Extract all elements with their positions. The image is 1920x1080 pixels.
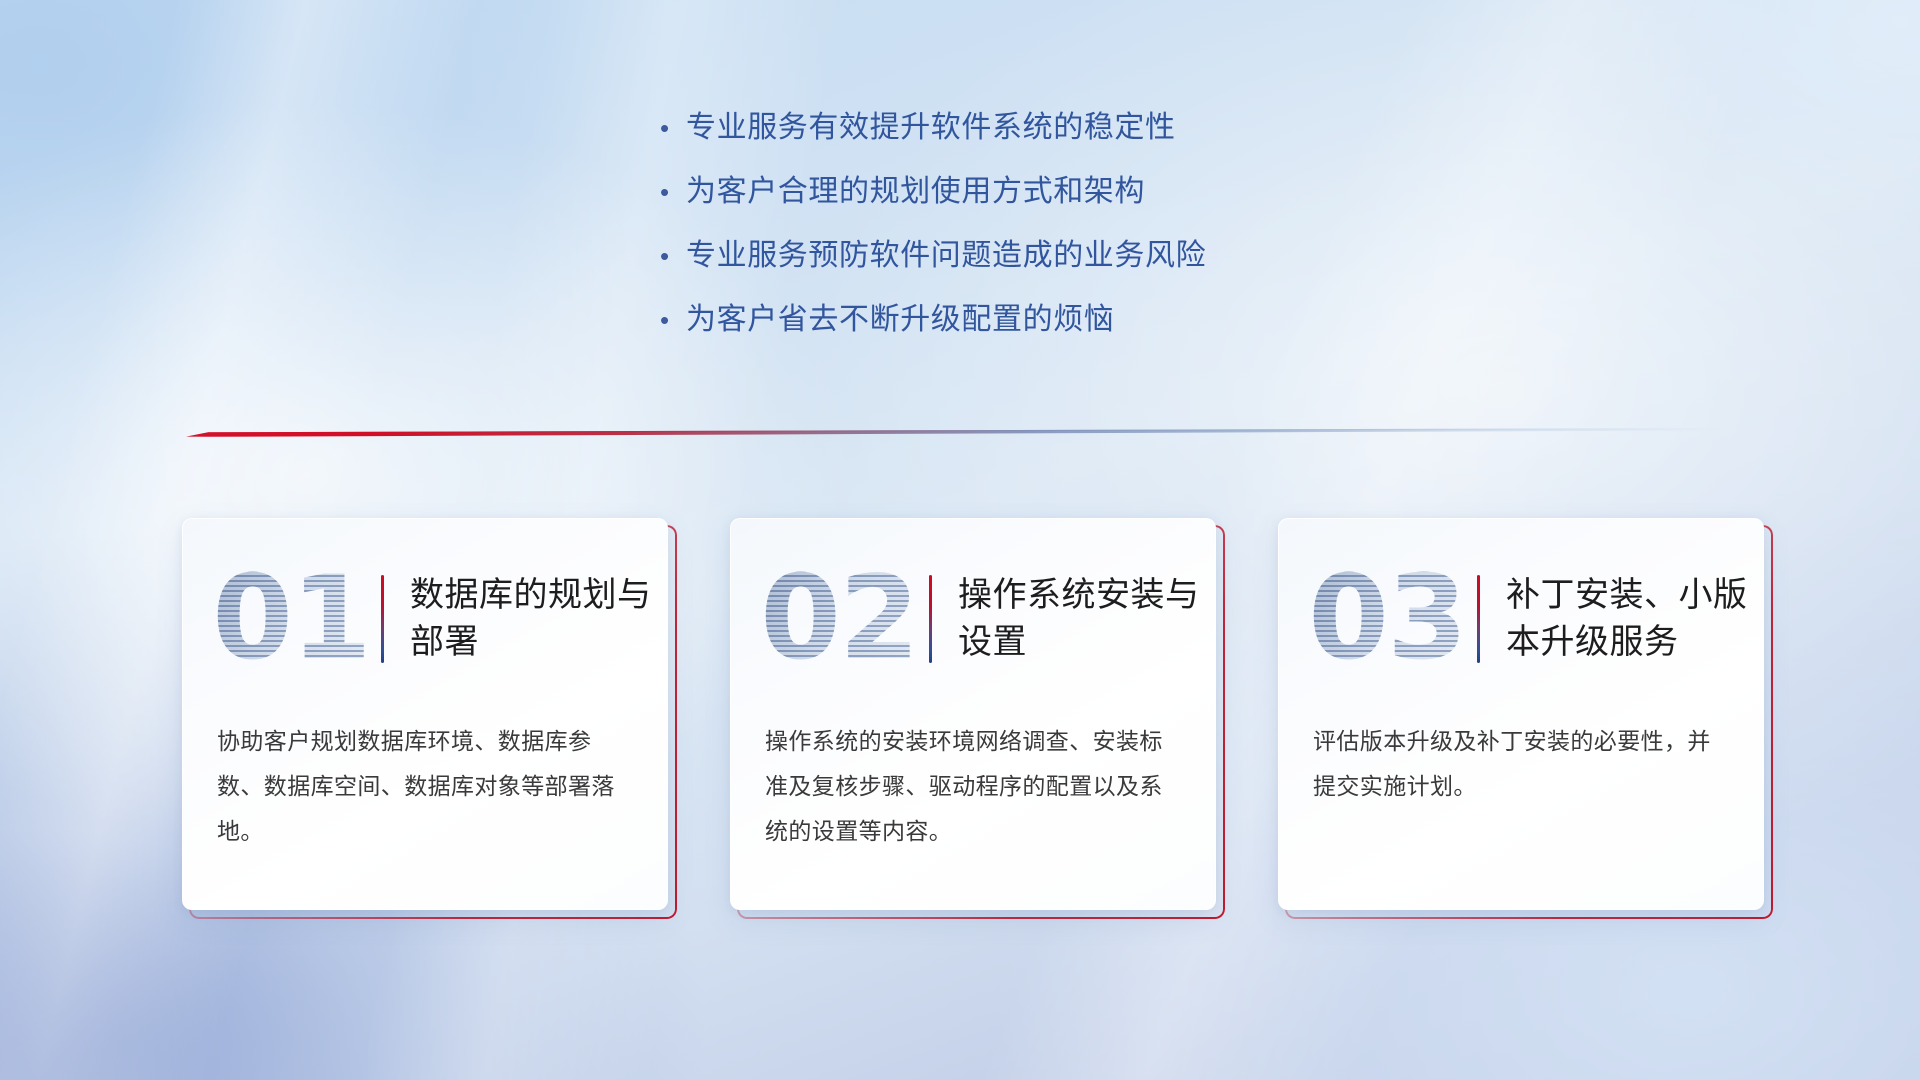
- card-description: 评估版本升级及补丁安装的必要性，并提交实施计划。: [1313, 719, 1729, 809]
- card-description: 操作系统的安装环境网络调查、安装标准及复核步骤、驱动程序的配置以及系统的设置等内…: [765, 719, 1181, 854]
- slide-canvas: • 专业服务有效提升软件系统的稳定性 • 为客户合理的规划使用方式和架构 • 专…: [0, 0, 1920, 1080]
- service-card[interactable]: 03 补丁安装、小版本升级服务 评估版本升级及补丁安装的必要性，并提交实施计划。: [1278, 518, 1762, 908]
- card-title: 数据库的规划与部署: [410, 572, 667, 666]
- card-header: 02 操作系统安装与设置: [731, 553, 1215, 685]
- bullet-dot-icon: •: [660, 172, 686, 212]
- bullet-item-label: 专业服务预防软件问题造成的业务风险: [686, 236, 1206, 276]
- list-item: • 专业服务预防软件问题造成的业务风险: [660, 236, 1206, 300]
- benefits-bullet-list: • 专业服务有效提升软件系统的稳定性 • 为客户合理的规划使用方式和架构 • 专…: [660, 108, 1206, 364]
- bullet-item-label: 为客户合理的规划使用方式和架构: [686, 172, 1145, 212]
- bullet-dot-icon: •: [660, 236, 686, 276]
- card-number-watermark: 01: [209, 560, 373, 678]
- tapered-rule-icon: [186, 425, 1720, 441]
- bullet-dot-icon: •: [660, 108, 686, 148]
- section-divider: [186, 425, 1720, 441]
- card-number-watermark: 03: [1305, 560, 1469, 678]
- bullet-dot-icon: •: [660, 300, 686, 340]
- card-panel: 03 补丁安装、小版本升级服务 评估版本升级及补丁安装的必要性，并提交实施计划。: [1278, 518, 1764, 910]
- service-card[interactable]: 02 操作系统安装与设置 操作系统的安装环境网络调查、安装标准及复核步骤、驱动程…: [730, 518, 1214, 908]
- card-title: 补丁安装、小版本升级服务: [1506, 572, 1763, 666]
- card-title: 操作系统安装与设置: [958, 572, 1215, 666]
- service-card[interactable]: 01 数据库的规划与部署 协助客户规划数据库环境、数据库参数、数据库空间、数据库…: [182, 518, 666, 908]
- card-description: 协助客户规划数据库环境、数据库参数、数据库空间、数据库对象等部署落地。: [217, 719, 633, 854]
- card-divider-bar: [1477, 575, 1480, 663]
- list-item: • 为客户合理的规划使用方式和架构: [660, 172, 1206, 236]
- card-header: 01 数据库的规划与部署: [183, 553, 667, 685]
- card-panel: 02 操作系统安装与设置 操作系统的安装环境网络调查、安装标准及复核步骤、驱动程…: [730, 518, 1216, 910]
- card-divider-bar: [929, 575, 932, 663]
- card-header: 03 补丁安装、小版本升级服务: [1279, 553, 1763, 685]
- bullet-item-label: 专业服务有效提升软件系统的稳定性: [686, 108, 1176, 148]
- card-panel: 01 数据库的规划与部署 协助客户规划数据库环境、数据库参数、数据库空间、数据库…: [182, 518, 668, 910]
- service-card-row: 01 数据库的规划与部署 协助客户规划数据库环境、数据库参数、数据库空间、数据库…: [182, 518, 1762, 908]
- list-item: • 为客户省去不断升级配置的烦恼: [660, 300, 1206, 364]
- card-divider-bar: [381, 575, 384, 663]
- card-number-watermark: 02: [757, 560, 921, 678]
- list-item: • 专业服务有效提升软件系统的稳定性: [660, 108, 1206, 172]
- bullet-item-label: 为客户省去不断升级配置的烦恼: [686, 300, 1114, 340]
